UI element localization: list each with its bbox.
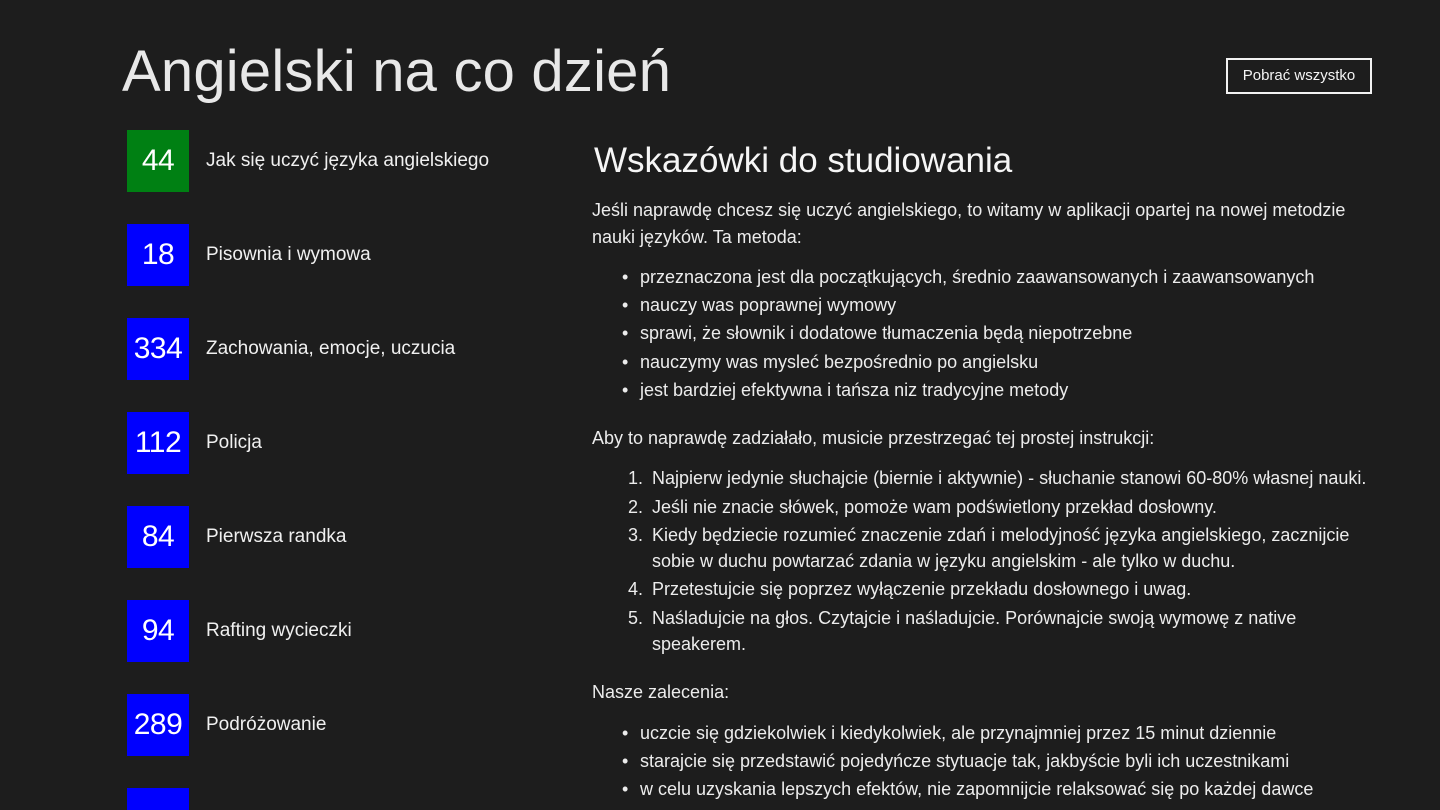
app-root: Angielski na co dzień Pobrać wszystko 44… xyxy=(0,0,1440,810)
instruction-step-item: Przetestujcie się poprzez wyłączenie prz… xyxy=(648,576,1367,602)
recommendations-list: uczcie się gdziekolwiek i kiedykolwiek, … xyxy=(592,720,1367,803)
download-all-button[interactable]: Pobrać wszystko xyxy=(1226,58,1372,94)
lesson-item[interactable] xyxy=(127,788,567,810)
lesson-item[interactable]: 334Zachowania, emocje, uczucia xyxy=(127,318,567,380)
lesson-count-tile: 112 xyxy=(127,412,189,474)
instruction-step-item: Kiedy będziecie rozumieć znaczenie zdań … xyxy=(648,522,1367,575)
recommendation-item: w celu uzyskania lepszych efektów, nie z… xyxy=(640,776,1367,802)
lesson-list[interactable]: 44Jak się uczyć języka angielskiego18Pis… xyxy=(127,130,567,810)
method-point-item: przeznaczona jest dla początkujących, śr… xyxy=(640,264,1367,290)
lesson-item[interactable]: 44Jak się uczyć języka angielskiego xyxy=(127,130,567,192)
lesson-item[interactable]: 94Rafting wycieczki xyxy=(127,600,567,662)
lesson-item-label: Policja xyxy=(206,431,262,454)
method-point-item: nauczy was poprawnej wymowy xyxy=(640,292,1367,318)
lesson-item-label: Jak się uczyć języka angielskiego xyxy=(206,149,489,172)
lesson-count-tile xyxy=(127,788,189,810)
lesson-item-label: Zachowania, emocje, uczucia xyxy=(206,337,455,360)
tips-heading: Wskazówki do studiowania xyxy=(594,141,1392,181)
recommendation-item: starajcie się przedstawić pojedyńcze sty… xyxy=(640,748,1367,774)
lesson-item[interactable]: 84Pierwsza randka xyxy=(127,506,567,568)
method-points-list: przeznaczona jest dla początkujących, śr… xyxy=(592,264,1367,403)
instruction-step-item: Jeśli nie znacie słówek, pomoże wam podś… xyxy=(648,494,1367,520)
instruction-steps-list: Najpierw jedynie słuchajcie (biernie i a… xyxy=(592,465,1367,657)
instruction-step-item: Najpierw jedynie słuchajcie (biernie i a… xyxy=(648,465,1367,491)
lesson-item[interactable]: 289Podróżowanie xyxy=(127,694,567,756)
lesson-item-label: Pierwsza randka xyxy=(206,525,346,548)
tips-body: Jeśli naprawdę chcesz się uczyć angielsk… xyxy=(592,197,1367,802)
method-point-item: nauczymy was mysleć bezpośrednio po angi… xyxy=(640,349,1367,375)
lesson-item-label: Rafting wycieczki xyxy=(206,619,352,642)
lesson-count-tile: 18 xyxy=(127,224,189,286)
lesson-count-tile: 334 xyxy=(127,318,189,380)
instruction-lead-paragraph: Aby to naprawdę zadziałało, musicie prze… xyxy=(592,425,1367,451)
lesson-item[interactable]: 112Policja xyxy=(127,412,567,474)
lesson-count-tile: 94 xyxy=(127,600,189,662)
tips-intro-paragraph: Jeśli naprawdę chcesz się uczyć angielsk… xyxy=(592,197,1367,250)
lesson-item[interactable]: 18Pisownia i wymowa xyxy=(127,224,567,286)
main-content: 44Jak się uczyć języka angielskiego18Pis… xyxy=(0,130,1440,810)
tips-pane: Wskazówki do studiowania Jeśli naprawdę … xyxy=(592,130,1392,810)
instruction-step-item: Naśladujcie na głos. Czytajcie i naśladu… xyxy=(648,605,1367,658)
lesson-count-tile: 84 xyxy=(127,506,189,568)
page-title: Angielski na co dzień xyxy=(122,42,671,103)
lesson-count-tile: 44 xyxy=(127,130,189,192)
recommendations-lead-paragraph: Nasze zalecenia: xyxy=(592,679,1367,705)
lesson-item-label: Pisownia i wymowa xyxy=(206,243,371,266)
lesson-item-label: Podróżowanie xyxy=(206,713,326,736)
method-point-item: sprawi, że słownik i dodatowe tłumaczeni… xyxy=(640,320,1367,346)
app-header: Angielski na co dzień Pobrać wszystko xyxy=(0,0,1440,130)
method-point-item: jest bardziej efektywna i tańsza niz tra… xyxy=(640,377,1367,403)
lesson-count-tile: 289 xyxy=(127,694,189,756)
recommendation-item: uczcie się gdziekolwiek i kiedykolwiek, … xyxy=(640,720,1367,746)
